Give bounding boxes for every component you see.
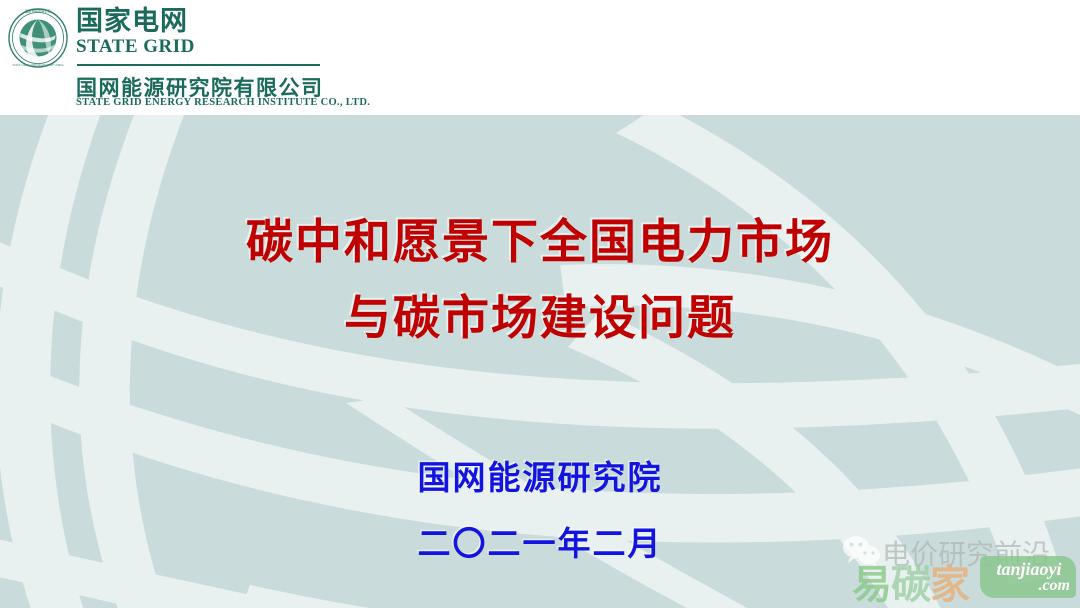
slide-title: 碳中和愿景下全国电力市场 与碳市场建设问题 <box>0 205 1080 357</box>
subtitle-organization: 国网能源研究院 <box>0 445 1080 511</box>
title-line-1: 碳中和愿景下全国电力市场 <box>0 205 1080 281</box>
tanjiaoyi-domain: tanjiaoyi .com <box>982 557 1076 594</box>
brand-name-en: STATE GRID <box>76 37 496 58</box>
state-grid-globe-logo-icon: 国家电网有限公司 STATE GRID CORPORATION OF CHINA <box>8 8 68 68</box>
tanjiaoyi-watermark: 易碳家 tanjiaoyi .com <box>852 552 1080 604</box>
tanjiaoyi-domain-line-2: .com <box>982 578 1076 594</box>
tanjiaoyi-char-1: 易 <box>852 562 891 608</box>
institute-name-en: STATE GRID ENERGY RESEARCH INSTITUTE CO.… <box>76 97 370 108</box>
svg-text:国家电网有限公司: 国家电网有限公司 <box>25 9 51 14</box>
tanjiaoyi-domain-line-1: tanjiaoyi <box>982 557 1076 578</box>
brand-name-cn: 国家电网 <box>76 8 496 36</box>
title-line-2: 与碳市场建设问题 <box>0 281 1080 357</box>
brand-divider <box>77 64 320 66</box>
svg-text:STATE GRID CORPORATION OF CHIN: STATE GRID CORPORATION OF CHINA <box>12 63 64 67</box>
tanjiaoyi-char-3: 家 <box>930 562 969 608</box>
tanjiaoyi-logo-text: 易碳家 <box>852 552 969 608</box>
brand-text-block: 国家电网 STATE GRID <box>76 8 496 58</box>
presentation-title-slide: 碳中和愿景下全国电力市场 与碳市场建设问题 国网能源研究院 二〇二一年二月 国家… <box>0 0 1080 608</box>
tanjiaoyi-char-2: 碳 <box>891 562 930 608</box>
slide-header: 国家电网有限公司 STATE GRID CORPORATION OF CHINA… <box>0 0 1080 115</box>
